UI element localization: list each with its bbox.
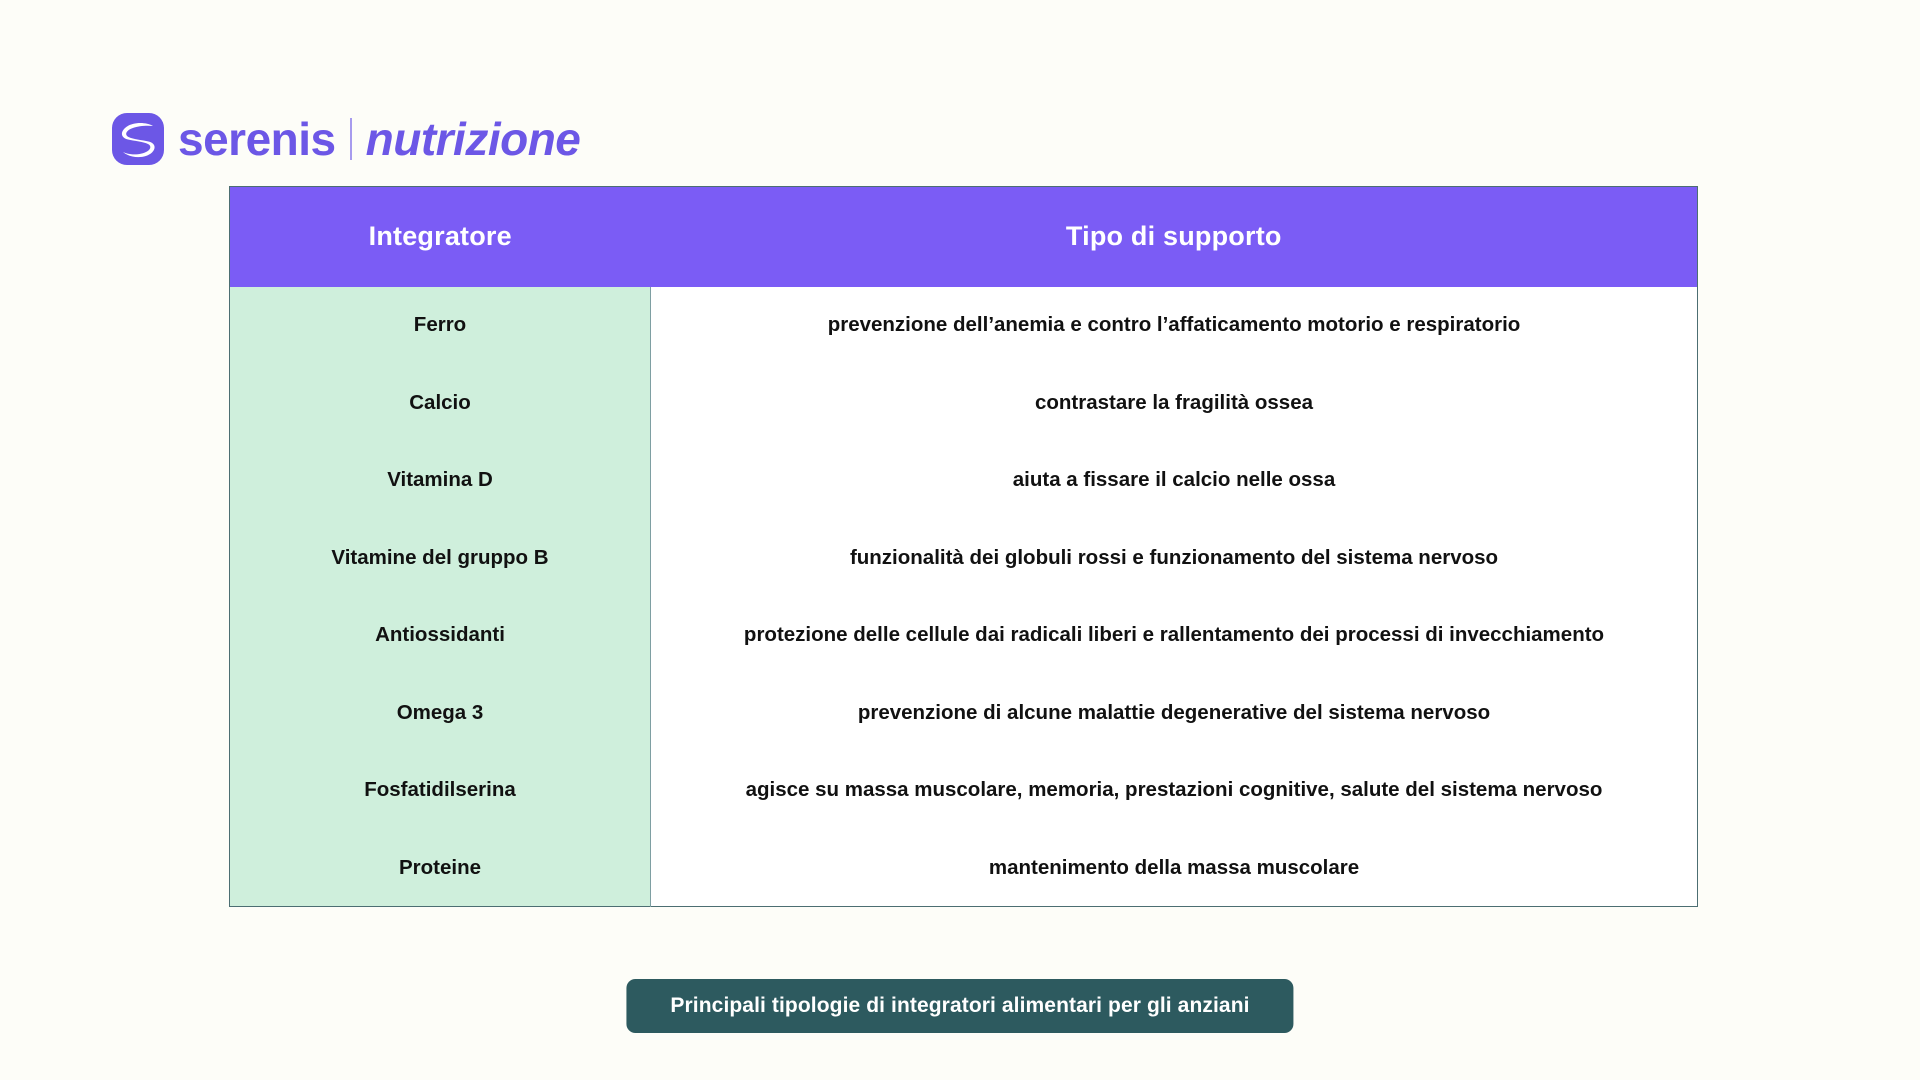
cell-supplement-support: aiuta a fissare il calcio nelle ossa	[651, 442, 1698, 520]
cell-supplement-support: contrastare la fragilità ossea	[651, 364, 1698, 442]
table-header-row: Integratore Tipo di supporto	[230, 187, 1698, 287]
brand-logo: serenis nutrizione	[112, 108, 580, 170]
cell-supplement-name: Antiossidanti	[230, 597, 651, 675]
column-header-integratore: Integratore	[230, 187, 651, 287]
brand-name: serenis	[178, 116, 336, 162]
cell-supplement-name: Omega 3	[230, 674, 651, 752]
cell-supplement-support: mantenimento della massa muscolare	[651, 829, 1698, 907]
cell-supplement-support: protezione delle cellule dai radicali li…	[651, 597, 1698, 675]
figure-caption: Principali tipologie di integratori alim…	[626, 979, 1293, 1033]
supplements-table: Integratore Tipo di supporto Ferro preve…	[229, 186, 1698, 907]
brand-divider	[350, 118, 352, 160]
table-row: Omega 3 prevenzione di alcune malattie d…	[230, 674, 1698, 752]
table-row: Vitamine del gruppo B funzionalità dei g…	[230, 519, 1698, 597]
table-row: Ferro prevenzione dell’anemia e contro l…	[230, 287, 1698, 365]
table-row: Calcio contrastare la fragilità ossea	[230, 364, 1698, 442]
serenis-s-logo-icon	[112, 113, 164, 165]
cell-supplement-support: agisce su massa muscolare, memoria, pres…	[651, 752, 1698, 830]
cell-supplement-support: prevenzione di alcune malattie degenerat…	[651, 674, 1698, 752]
supplements-table-container: Integratore Tipo di supporto Ferro preve…	[229, 186, 1698, 907]
column-header-tipo-di-supporto: Tipo di supporto	[651, 187, 1698, 287]
cell-supplement-name: Fosfatidilserina	[230, 752, 651, 830]
table-row: Fosfatidilserina agisce su massa muscola…	[230, 752, 1698, 830]
table-head: Integratore Tipo di supporto	[230, 187, 1698, 287]
brand-product: nutrizione	[366, 116, 581, 162]
table-row: Antiossidanti protezione delle cellule d…	[230, 597, 1698, 675]
cell-supplement-name: Ferro	[230, 287, 651, 365]
table-body: Ferro prevenzione dell’anemia e contro l…	[230, 287, 1698, 907]
table-row: Proteine mantenimento della massa muscol…	[230, 829, 1698, 907]
cell-supplement-support: prevenzione dell’anemia e contro l’affat…	[651, 287, 1698, 365]
cell-supplement-name: Vitamina D	[230, 442, 651, 520]
table-row: Vitamina D aiuta a fissare il calcio nel…	[230, 442, 1698, 520]
cell-supplement-name: Proteine	[230, 829, 651, 907]
cell-supplement-name: Vitamine del gruppo B	[230, 519, 651, 597]
cell-supplement-support: funzionalità dei globuli rossi e funzion…	[651, 519, 1698, 597]
cell-supplement-name: Calcio	[230, 364, 651, 442]
